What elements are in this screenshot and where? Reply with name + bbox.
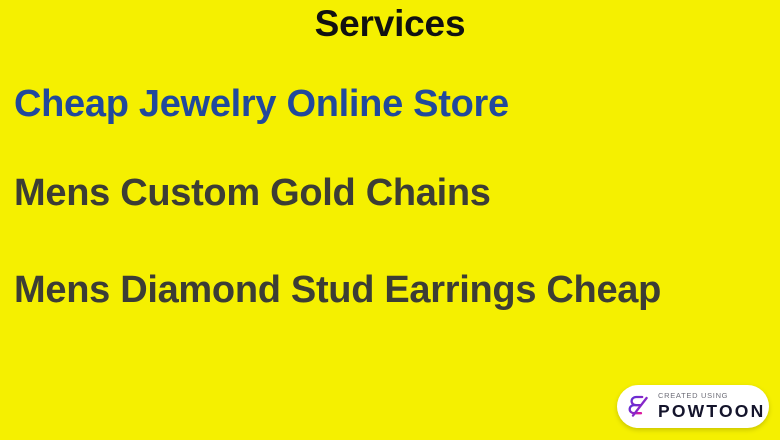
powtoon-wordmark: POWTOON <box>658 402 765 421</box>
slide-canvas: Services Cheap Jewelry Online Store Mens… <box>0 0 780 440</box>
service-item-cheap-jewelry-online-store: Cheap Jewelry Online Store <box>14 82 509 126</box>
page-title: Services <box>0 2 780 46</box>
powtoon-badge-text: CREATED USING POWTOON <box>658 392 765 421</box>
powtoon-logo-icon <box>628 394 651 419</box>
service-item-mens-custom-gold-chains: Mens Custom Gold Chains <box>14 171 491 215</box>
powtoon-watermark-badge[interactable]: CREATED USING POWTOON <box>617 385 769 428</box>
watermark-caption: CREATED USING <box>658 392 765 400</box>
service-item-mens-diamond-stud-earrings-cheap: Mens Diamond Stud Earrings Cheap <box>14 268 661 312</box>
